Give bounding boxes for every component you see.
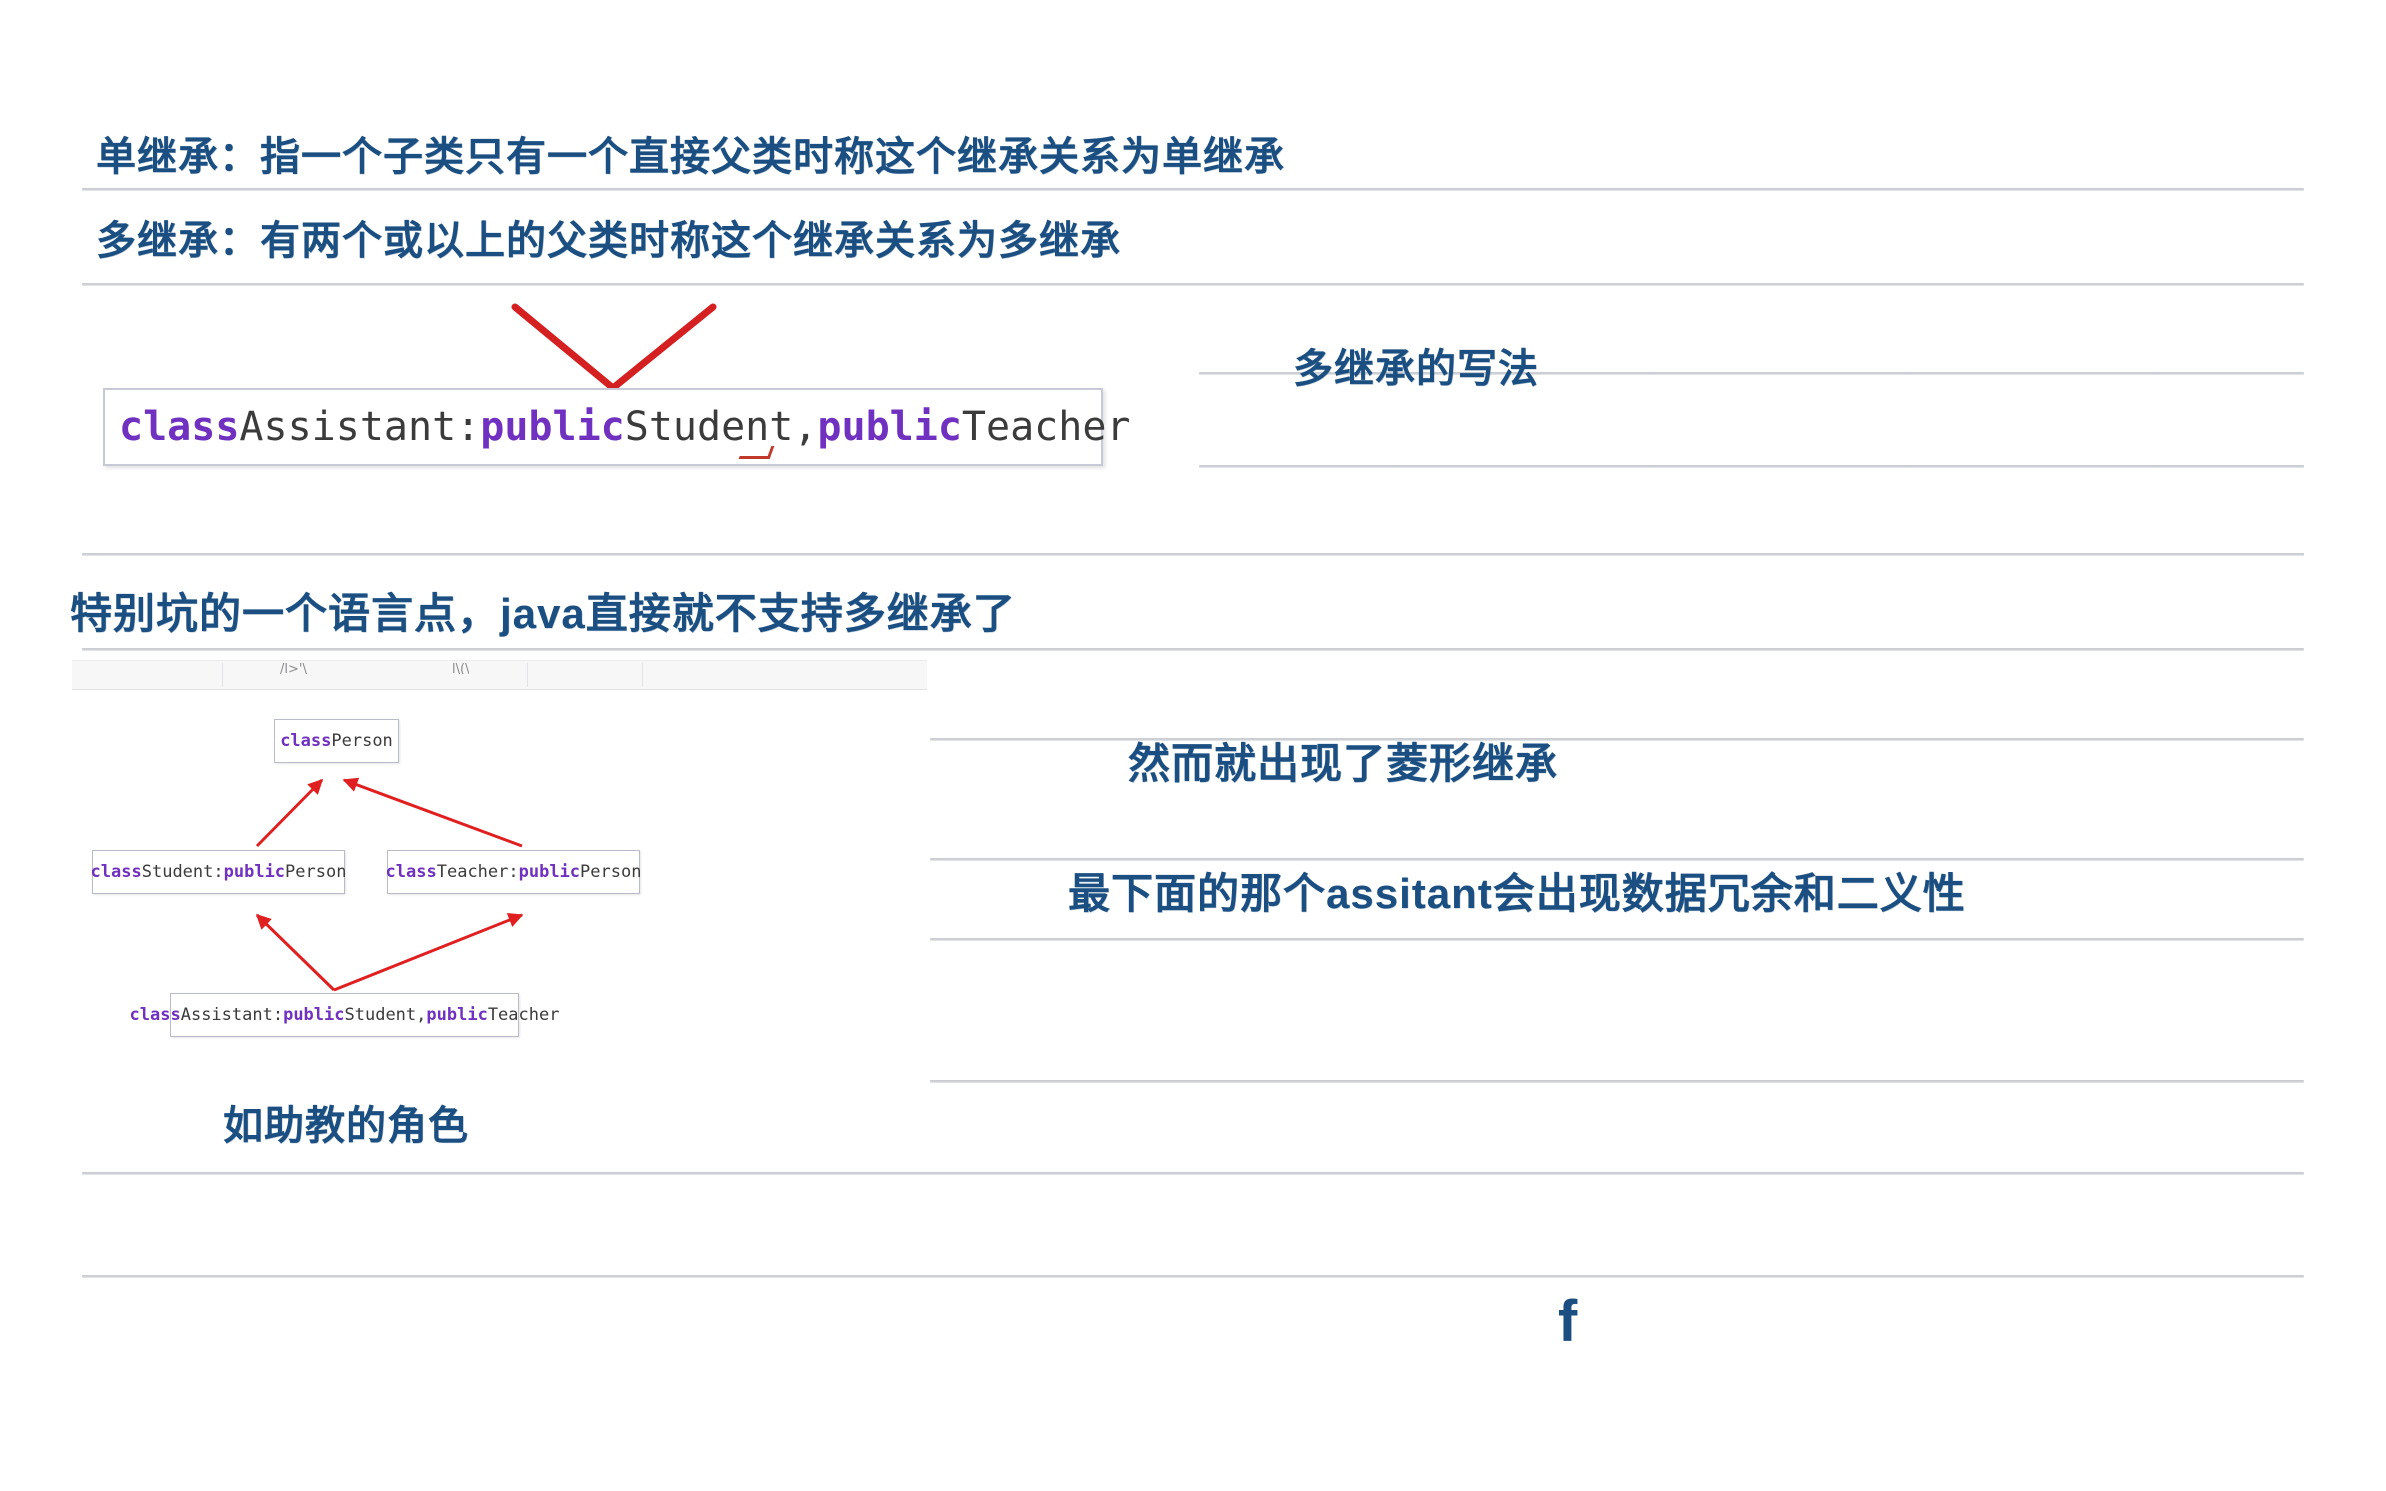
rule-line: [82, 648, 2304, 651]
node-token-keyword: class: [91, 862, 142, 882]
single-inheritance-note: 单继承：指一个子类只有一个直接父类时称这个继承关系为单继承: [96, 124, 1285, 182]
slide-canvas: 单继承：指一个子类只有一个直接父类时称这个继承关系为单继承 多继承：有两个或以上…: [0, 0, 2386, 1491]
node-token-keyword: class: [280, 731, 331, 751]
assistant-role-caption: 如助教的角色: [223, 1093, 469, 1151]
class-node-teacher: class Teacher: public Person: [387, 850, 640, 894]
rule-line: [930, 1080, 2304, 1083]
red-underline-mark: [739, 446, 775, 459]
node-token-keyword: public: [426, 1005, 487, 1025]
node-token-keyword: public: [224, 862, 285, 882]
node-token-identifier: Person: [285, 862, 346, 882]
code-token-identifier: Teacher: [962, 404, 1131, 450]
rule-line: [930, 938, 2304, 941]
code-snippet-box: class Assistant: public Student, public …: [103, 388, 1103, 466]
edge-student-to-person: [257, 780, 322, 846]
edge-assistant-to-teacher: [334, 915, 522, 990]
multiple-inheritance-note: 多继承：有两个或以上的父类时称这个继承关系为多继承: [96, 208, 1121, 266]
rule-line: [82, 553, 2304, 556]
class-node-assistant: class Assistant: public Student, public …: [170, 993, 519, 1037]
node-token-keyword: class: [386, 862, 437, 882]
edge-assistant-to-student: [257, 915, 334, 990]
node-token-identifier: Teacher:: [437, 862, 519, 882]
node-token-keyword: public: [519, 862, 580, 882]
class-node-student: class Student: public Person: [92, 850, 345, 894]
node-token-identifier: Person: [331, 731, 392, 751]
footer-f-mark: f: [1558, 1288, 1577, 1355]
rule-line: [82, 283, 2304, 286]
edge-teacher-to-person: [344, 780, 522, 846]
rule-line: [82, 188, 2304, 191]
rule-line: [1199, 465, 2304, 468]
code-token-keyword: class: [119, 404, 239, 450]
node-token-identifier: Student:: [142, 862, 224, 882]
class-node-person: class Person: [274, 719, 399, 763]
diamond-inheritance-note: 然而就出现了菱形继承: [1128, 730, 1558, 791]
node-token-identifier: Assistant:: [181, 1005, 283, 1025]
node-token-identifier: Teacher: [488, 1005, 560, 1025]
node-token-keyword: class: [130, 1005, 181, 1025]
code-token-identifier: Assistant:: [239, 404, 480, 450]
node-token-identifier: Student,: [345, 1005, 427, 1025]
code-token-keyword: public: [817, 404, 962, 450]
code-token-keyword: public: [480, 404, 625, 450]
node-token-identifier: Person: [580, 862, 641, 882]
diamond-inheritance-diagram: /l>'\ l\(\ class Person class S: [72, 660, 927, 1160]
node-token-keyword: public: [283, 1005, 344, 1025]
assistant-ambiguity-note: 最下面的那个assitant会出现数据冗余和二义性: [1068, 860, 1966, 921]
multiple-inheritance-syntax-label: 多继承的写法: [1293, 336, 1539, 394]
java-no-multiple-inheritance-note: 特别坑的一个语言点，java直接就不支持多继承了: [70, 580, 1016, 641]
rule-line: [82, 1172, 2304, 1175]
rule-line: [82, 1275, 2304, 1278]
code-token-identifier: Student,: [625, 404, 818, 450]
inheritance-arrows: [72, 660, 927, 1160]
